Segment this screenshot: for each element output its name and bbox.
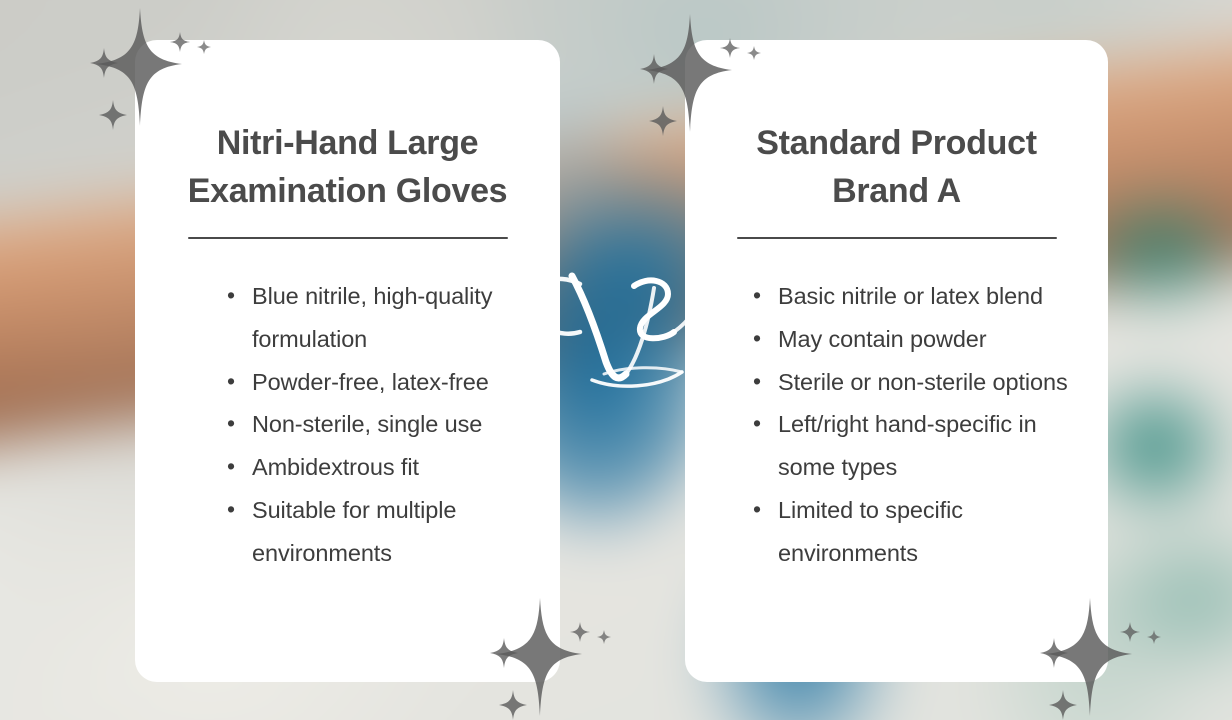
list-item: May contain powder (739, 318, 1078, 361)
card-left-divider (188, 237, 508, 240)
card-right-divider (737, 237, 1057, 240)
card-left-feature-list: Blue nitrile, high-quality formulation P… (165, 275, 530, 574)
comparison-card-left: Nitri-Hand Large Examination Gloves Blue… (135, 40, 560, 682)
list-item: Suitable for multiple environments (213, 489, 498, 575)
list-item: Powder-free, latex-free (213, 361, 498, 404)
card-right-title: Standard Product Brand A (715, 40, 1078, 216)
list-item: Sterile or non-sterile options (739, 361, 1078, 404)
card-right-feature-list: Basic nitrile or latex blend May contain… (715, 275, 1078, 574)
list-item: Blue nitrile, high-quality formulation (213, 275, 498, 361)
card-left-title: Nitri-Hand Large Examination Gloves (165, 40, 530, 216)
list-item: Basic nitrile or latex blend (739, 275, 1078, 318)
comparison-card-right: Standard Product Brand A Basic nitrile o… (685, 40, 1108, 682)
list-item: Non-sterile, single use (213, 403, 498, 446)
list-item: Limited to specific environments (739, 489, 1078, 575)
list-item: Ambidextrous fit (213, 446, 498, 489)
list-item: Left/right hand-specific in some types (739, 403, 1078, 489)
